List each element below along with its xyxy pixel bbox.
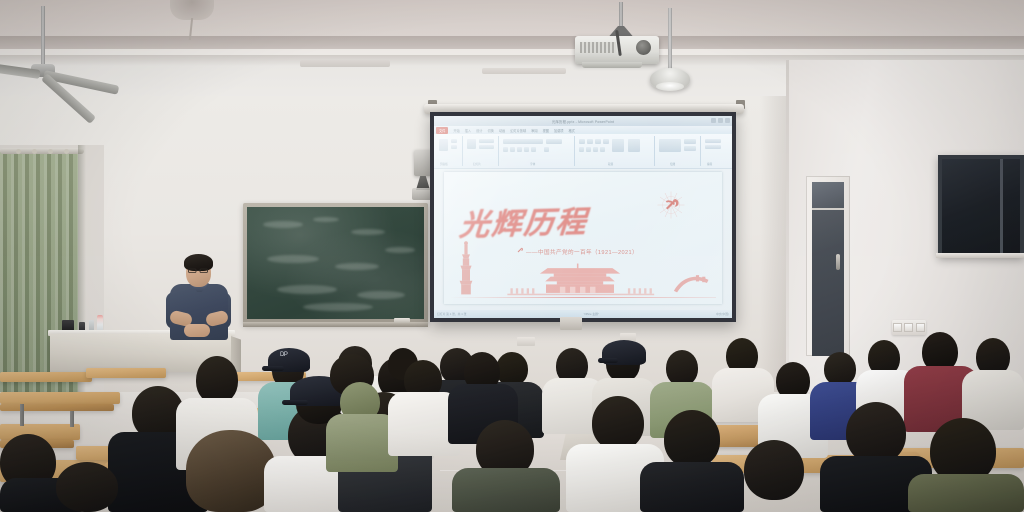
tab-home[interactable]: 开始 [453,128,459,133]
font-size-box[interactable] [546,139,562,144]
student-head [824,352,856,386]
spotlight-lens-icon [656,82,684,91]
reset-icon[interactable] [479,145,494,149]
student-head [744,440,804,500]
shadow-icon[interactable] [524,147,529,152]
curtain-ring [64,149,69,154]
door-handle[interactable] [836,254,840,270]
tab-transitions[interactable]: 切换 [488,128,494,133]
student-body [452,468,560,512]
curtain-ring [48,149,53,154]
ribbon-group-drawing[interactable]: 绘图 [656,136,701,166]
ppt-ribbon[interactable]: 剪贴板 幻灯片 字体 [434,134,732,169]
tab-review[interactable]: 审阅 [531,128,537,133]
tab-format[interactable]: 格式 [569,128,575,133]
projector-mount-rod [619,2,623,30]
student-head [846,402,906,464]
paste-icon[interactable] [439,139,448,151]
light-switch-panel[interactable] [892,320,926,335]
student-body [908,474,1024,512]
tab-addins[interactable]: 加载项 [554,128,564,133]
close-icon[interactable] [725,118,730,123]
copy-icon[interactable] [451,145,457,149]
classroom-photo-scene: 光辉历程.pptx - Microsoft PowerPoint 文件 开始 插… [0,0,1024,512]
text-direction-icon[interactable] [628,139,640,152]
shape-outline-icon[interactable] [684,146,696,151]
status-language: 中文(中国) [716,312,729,316]
student-head [666,350,698,386]
ceiling-beam-highlight [0,49,1024,55]
ribbon-group-label: 幻灯片 [473,162,481,166]
cap-brim [598,358,618,363]
tab-file[interactable]: 文件 [436,127,448,134]
find-icon[interactable] [705,139,721,143]
desk [86,368,166,378]
switch-key[interactable] [916,323,925,332]
font-color-icon[interactable] [544,147,549,152]
desk [0,392,120,404]
ppt-ribbon-tabs[interactable]: 文件 开始 插入 设计 切换 动画 幻灯片放映 审阅 视图 加载项 格式 [434,126,732,134]
wall-corner-edge [786,60,789,400]
ceiling-rail [300,60,390,67]
window-controls[interactable] [711,118,730,123]
tab-animations[interactable]: 动画 [499,128,505,133]
font-name-box[interactable] [503,139,543,144]
minimize-icon[interactable] [711,118,716,123]
shape-fill-icon[interactable] [684,139,696,144]
decrease-indent-icon[interactable] [595,139,601,144]
desk [0,372,92,382]
presenter-hands [184,324,210,337]
switch-key[interactable] [904,323,913,332]
student-head [56,462,118,512]
ceiling-rail [482,68,566,74]
ceiling-mount [170,0,214,20]
chalkboard-eraser [394,318,410,323]
tab-view[interactable]: 视图 [543,128,549,133]
tab-insert[interactable]: 插入 [465,128,471,133]
status-slide-count: 幻灯片 第 1 张，共 1 张 [437,312,466,316]
great-wall-icon [672,272,712,294]
ribbon-group-editing[interactable]: 编辑 [702,136,726,166]
curtain-rod [0,148,84,154]
bold-icon[interactable] [503,147,508,152]
ribbon-group-label: 字体 [530,162,535,166]
layout-icon[interactable] [479,139,494,143]
desk-leg [70,411,74,427]
monument-tower-icon [458,238,474,298]
ribbon-group-clipboard[interactable]: 剪贴板 [436,136,463,166]
ribbon-group-font[interactable]: 字体 [500,136,575,166]
ribbon-group-label: 编辑 [707,162,712,166]
subtitle-party-emblem-icon [516,246,524,254]
numbering-icon[interactable] [587,139,593,144]
strikethrough-icon[interactable] [531,147,536,152]
window-mullion [1000,159,1003,253]
switch-key[interactable] [893,323,902,332]
desk-leg [20,404,24,426]
glasses-icon [188,268,208,273]
cap-logo: DP [280,352,287,358]
ppt-window-title: 光辉历程.pptx - Microsoft PowerPoint [552,119,614,124]
ribbon-group-label: 绘图 [670,162,675,166]
chalkboard [247,207,424,319]
ccp-party-emblem-icon [656,190,686,220]
ceiling-fan-rod [41,6,45,68]
student-body [640,462,744,512]
power-socket[interactable] [517,337,535,346]
curtain-ring [32,149,37,154]
projector-vent [580,42,616,53]
underline-icon[interactable] [517,147,522,152]
ppt-status-bar: 幻灯片 第 1 张，共 1 张 “Office 主题” 中文(中国) [434,310,732,318]
bullets-icon[interactable] [579,139,585,144]
ribbon-group-label: 段落 [608,162,613,166]
ppt-title-bar: 光辉历程.pptx - Microsoft PowerPoint [434,116,732,126]
slide-subtitle: ——中国共产党的一百年（1921—2021） [526,248,638,256]
columns-icon[interactable] [612,139,624,152]
ribbon-group-label: 剪贴板 [440,162,448,166]
new-slide-icon[interactable] [467,139,476,149]
student-head [186,430,276,512]
desk-edge [0,404,114,411]
align-left-icon[interactable] [579,147,584,152]
ribbon-group-paragraph[interactable]: 段落 [576,136,655,166]
replace-icon[interactable] [705,145,721,149]
student-head [664,410,720,468]
justify-icon[interactable] [600,147,605,152]
status-theme: “Office 主题” [583,312,599,316]
restore-icon[interactable] [718,118,723,123]
spotlight-rod [668,8,672,70]
student-head [196,356,238,404]
door-transom-window [812,182,844,210]
projector-lens-icon [636,40,651,55]
shapes-gallery-icon[interactable] [659,139,681,152]
cap-brim [262,366,284,371]
slide-decor-line [450,297,716,299]
student-head [592,396,644,450]
ceiling-beam [0,36,1024,49]
cap-brim [282,400,308,405]
projector-base [582,62,642,68]
curtain-ring [16,149,21,154]
projection-screen: 光辉历程.pptx - Microsoft PowerPoint 文件 开始 插… [434,116,732,318]
slide-title: 光辉历程 [458,195,642,244]
cut-icon[interactable] [451,139,457,143]
align-center-icon[interactable] [586,147,591,152]
tiananmen-gate-icon [500,262,660,296]
ribbon-group-slides[interactable]: 幻灯片 [464,136,499,166]
classroom-window [938,155,1024,257]
slide-canvas[interactable]: 光辉历程 [444,172,722,304]
student-head [496,352,528,386]
tab-design[interactable]: 设计 [476,128,482,133]
tab-slideshow[interactable]: 幻灯片放映 [510,128,526,133]
wall-utility-box [560,317,582,330]
podium-water-bottle [97,315,103,331]
window-sill [936,253,1024,258]
align-right-icon[interactable] [593,147,598,152]
italic-icon[interactable] [510,147,515,152]
increase-indent-icon[interactable] [603,139,609,144]
